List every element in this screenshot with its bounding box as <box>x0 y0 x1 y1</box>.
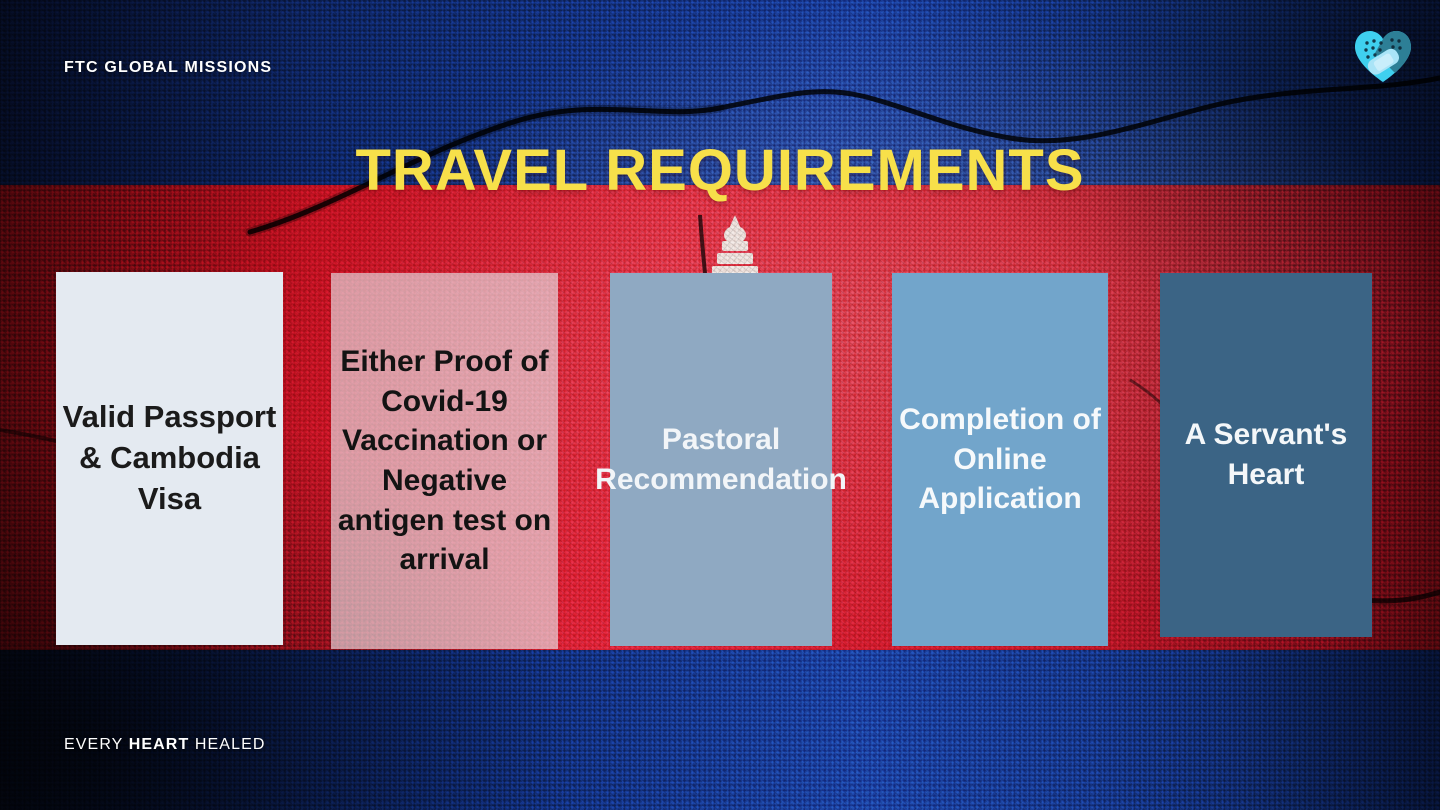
footer-suffix: HEALED <box>189 736 265 753</box>
page-title: TRAVEL REQUIREMENTS <box>0 137 1440 204</box>
requirement-card-valid-passport-visa[interactable]: Valid Passport & Cambodia Visa <box>56 272 283 645</box>
requirement-card-text: Valid Passport & Cambodia Visa <box>62 397 277 520</box>
requirement-card-text: Completion of Online Application <box>898 400 1102 519</box>
footer-tagline: EVERY HEART HEALED <box>64 736 266 754</box>
requirement-card-pastoral-recommendation[interactable]: Pastoral Recommendation <box>610 273 832 646</box>
brand-name: FTC GLOBAL MISSIONS <box>64 59 272 77</box>
requirement-card-text: Either Proof of Covid-19 Vaccination or … <box>337 342 552 580</box>
requirement-card-online-application[interactable]: Completion of Online Application <box>892 273 1108 646</box>
requirement-card-covid-proof[interactable]: Either Proof of Covid-19 Vaccination or … <box>331 273 558 649</box>
heart-bandage-icon <box>1352 28 1414 84</box>
requirement-card-servants-heart[interactable]: A Servant's Heart <box>1160 273 1372 637</box>
footer-prefix: EVERY <box>64 736 129 753</box>
slide: FTC GLOBAL MISSIONS TRAVEL REQUIREMENTS … <box>0 0 1440 810</box>
requirement-card-text: A Servant's Heart <box>1166 415 1366 494</box>
requirement-card-text: Pastoral Recommendation <box>595 420 847 499</box>
footer-emphasis: HEART <box>129 736 190 753</box>
